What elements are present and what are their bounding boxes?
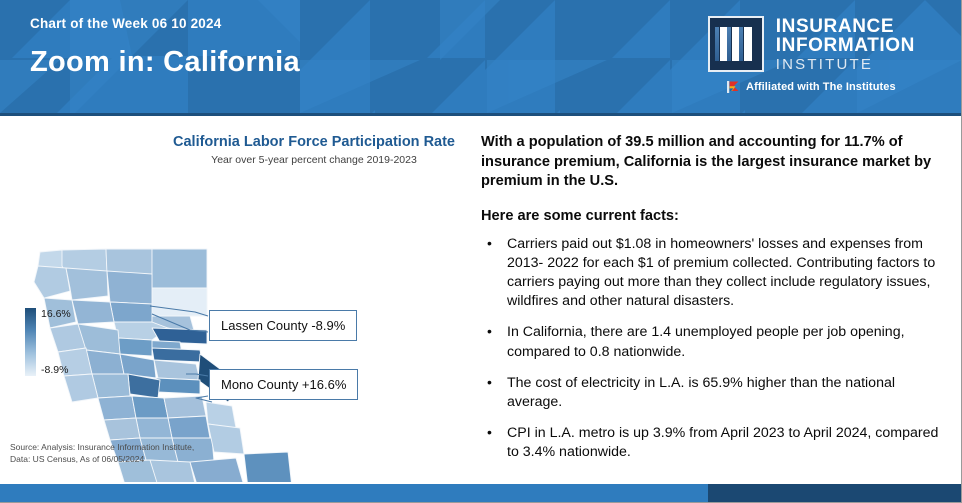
county-region	[86, 350, 124, 374]
county-region	[152, 249, 207, 288]
callout-lassen[interactable]: Lassen County -8.9%	[209, 310, 357, 341]
county-region	[132, 396, 168, 418]
county-region	[107, 271, 152, 304]
three-pillars-icon	[708, 16, 764, 72]
county-region	[106, 249, 152, 274]
map-panel: California Labor Force Participation Rat…	[0, 116, 470, 482]
list-item: In California, there are 1.4 unemployed …	[481, 323, 949, 361]
county-region	[98, 396, 136, 420]
county-region	[66, 268, 108, 300]
logo-line-3: INSTITUTE	[776, 57, 915, 72]
county-region	[154, 360, 200, 380]
footer-bar	[0, 484, 962, 503]
county-region	[152, 348, 202, 362]
county-region-lassen	[152, 288, 207, 316]
california-county-choropleth-map[interactable]	[0, 116, 470, 482]
footer-left-segment	[0, 484, 708, 503]
county-region	[168, 416, 210, 438]
page-title: Zoom in: California	[30, 46, 300, 79]
county-region	[72, 300, 114, 324]
kicker-text: Chart of the Week 06 10 2024	[30, 16, 221, 31]
affiliation-row: Affiliated with The Institutes	[727, 81, 896, 93]
county-region	[190, 458, 244, 482]
county-region	[118, 338, 152, 356]
legend-labels: 16.6% -8.9%	[41, 308, 71, 376]
list-item: Carriers paid out $1.08 in homeowners' l…	[481, 235, 949, 312]
logo-line-1: INSURANCE	[776, 17, 915, 36]
facts-list: Carriers paid out $1.08 in homeowners' l…	[481, 235, 949, 463]
body-area: California Labor Force Participation Rat…	[0, 116, 962, 482]
header-banner: Chart of the Week 06 10 2024 Zoom in: Ca…	[0, 0, 962, 113]
legend-min-label: -8.9%	[41, 364, 71, 376]
lede-paragraph: With a population of 39.5 million and ac…	[481, 133, 949, 192]
source-line-2: Data: US Census, As of 06/05/2024	[10, 453, 194, 465]
logo-line-2: INFORMATION	[776, 36, 915, 55]
facts-heading: Here are some current facts:	[481, 208, 949, 224]
legend-gradient-bar	[25, 308, 36, 376]
source-line-1: Source: Analysis: Insurance Information …	[10, 441, 194, 453]
callout-lassen-label: Lassen County -8.9%	[221, 318, 345, 333]
callout-mono[interactable]: Mono County +16.6%	[209, 369, 358, 400]
map-legend: 16.6% -8.9%	[25, 308, 71, 376]
brand-logo[interactable]: INSURANCE INFORMATION INSTITUTE Affiliat…	[708, 16, 915, 93]
county-region	[136, 418, 172, 438]
legend-max-label: 16.6%	[41, 308, 71, 320]
county-region	[64, 374, 98, 402]
slide: Chart of the Week 06 10 2024 Zoom in: Ca…	[0, 0, 962, 503]
county-region	[92, 374, 130, 398]
institutes-flag-icon	[727, 81, 740, 93]
callout-mono-label: Mono County +16.6%	[221, 377, 346, 392]
logo-wordmark: INSURANCE INFORMATION INSTITUTE	[776, 17, 915, 72]
county-region	[244, 452, 292, 482]
source-note: Source: Analysis: Insurance Information …	[10, 441, 194, 466]
county-region	[34, 266, 70, 298]
list-item: The cost of electricity in L.A. is 65.9%…	[481, 374, 949, 412]
list-item: CPI in L.A. metro is up 3.9% from April …	[481, 424, 949, 462]
logo-row: INSURANCE INFORMATION INSTITUTE	[708, 16, 915, 72]
facts-panel: With a population of 39.5 million and ac…	[481, 116, 949, 482]
county-region	[156, 378, 200, 394]
county-region	[208, 424, 244, 454]
county-region	[104, 418, 140, 440]
footer-right-segment	[708, 484, 962, 503]
affiliation-text: Affiliated with The Institutes	[746, 81, 896, 93]
county-region	[110, 302, 152, 322]
